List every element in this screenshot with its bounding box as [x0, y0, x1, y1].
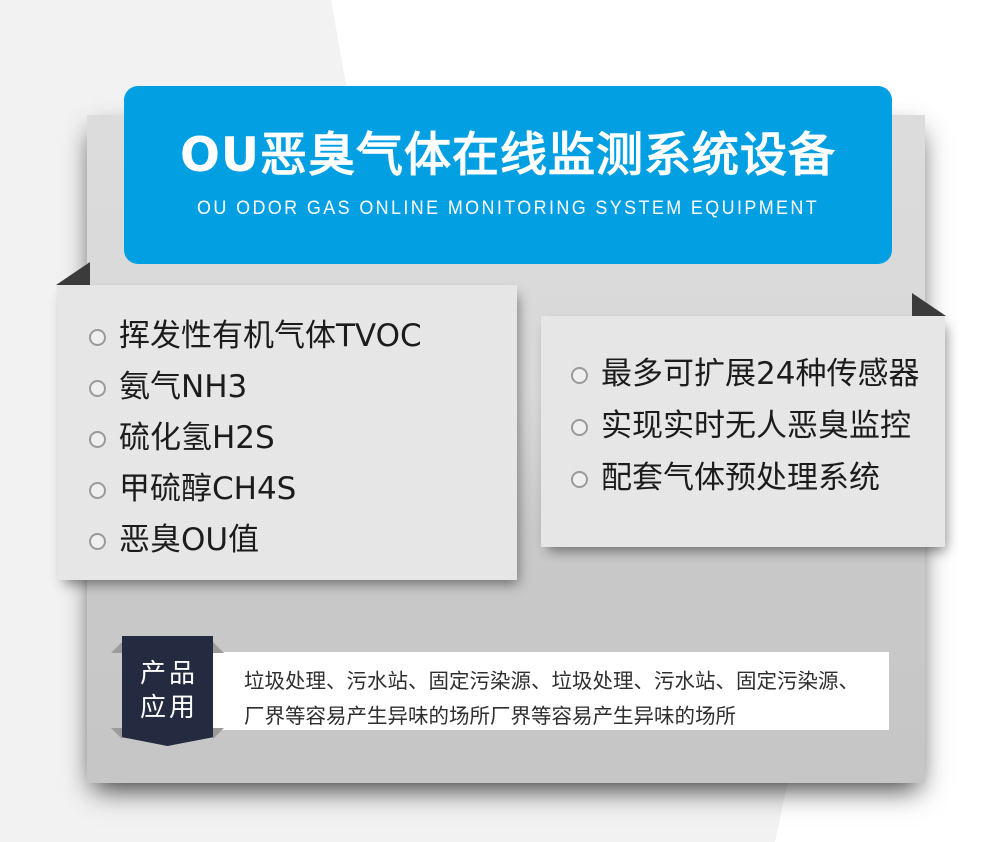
badge-ribbon-tail-left-bottom — [111, 728, 122, 739]
folded-corner-icon — [56, 262, 90, 285]
list-item: 挥发性有机气体TVOC — [57, 311, 517, 362]
application-badge-line-2: 应用 — [137, 691, 198, 725]
list-item-label: 最多可扩展24种传感器 — [601, 359, 919, 390]
list-item: 硫化氢H2S — [57, 413, 517, 464]
list-item: 氨气NH3 — [57, 362, 517, 413]
bullet-circle-icon — [89, 533, 106, 550]
bullet-circle-icon — [89, 380, 106, 397]
poster-stage: OU恶臭气体在线监测系统设备 OU ODOR GAS ONLINE MONITO… — [0, 0, 1000, 842]
list-item: 最多可扩展24种传感器 — [541, 348, 945, 400]
bullet-circle-icon — [89, 482, 106, 499]
application-strip: 垃圾处理、污水站、固定污染源、垃圾处理、污水站、固定污染源、 厂界等容易产生异味… — [122, 636, 889, 746]
banner-title-cn: OU恶臭气体在线监测系统设备 — [180, 130, 836, 182]
header-banner: OU恶臭气体在线监测系统设备 OU ODOR GAS ONLINE MONITO… — [124, 86, 892, 264]
list-item: 甲硫醇CH4S — [57, 464, 517, 515]
bullet-circle-icon — [571, 367, 588, 384]
folded-corner-icon — [912, 293, 946, 316]
list-item-label: 挥发性有机气体TVOC — [119, 321, 422, 352]
list-item: 配套气体预处理系统 — [541, 452, 945, 504]
capabilities-list: 最多可扩展24种传感器 实现实时无人恶臭监控 配套气体预处理系统 — [541, 348, 945, 504]
badge-ribbon-tail-right-bottom — [213, 728, 224, 739]
list-item-label: 甲硫醇CH4S — [119, 474, 296, 505]
application-badge-line-1: 产品 — [137, 657, 198, 691]
application-text-panel: 垃圾处理、污水站、固定污染源、垃圾处理、污水站、固定污染源、 厂界等容易产生异味… — [152, 652, 889, 730]
capabilities-card: 最多可扩展24种传感器 实现实时无人恶臭监控 配套气体预处理系统 — [541, 316, 945, 547]
gas-types-card: 挥发性有机气体TVOC 氨气NH3 硫化氢H2S 甲硫醇CH4S 恶臭OU值 — [57, 285, 517, 580]
bullet-circle-icon — [89, 431, 106, 448]
list-item-label: 实现实时无人恶臭监控 — [601, 411, 911, 442]
badge-ribbon-tail-right — [213, 642, 224, 653]
list-item: 恶臭OU值 — [57, 515, 517, 566]
list-item-label: 硫化氢H2S — [119, 423, 275, 454]
list-item-label: 氨气NH3 — [119, 372, 247, 403]
bullet-circle-icon — [571, 419, 588, 436]
bullet-circle-icon — [89, 329, 106, 346]
application-text-line-1: 垃圾处理、污水站、固定污染源、垃圾处理、污水站、固定污染源、 — [244, 664, 875, 699]
list-item: 实现实时无人恶臭监控 — [541, 400, 945, 452]
badge-ribbon-tail-left — [111, 642, 122, 653]
list-item-label: 配套气体预处理系统 — [601, 463, 880, 494]
gas-types-list: 挥发性有机气体TVOC 氨气NH3 硫化氢H2S 甲硫醇CH4S 恶臭OU值 — [57, 311, 517, 566]
bullet-circle-icon — [571, 471, 588, 488]
application-badge: 产品 应用 — [122, 636, 213, 746]
banner-title-en: OU ODOR GAS ONLINE MONITORING SYSTEM EQU… — [197, 197, 819, 220]
list-item-label: 恶臭OU值 — [119, 525, 259, 556]
application-text-line-2: 厂界等容易产生异味的场所厂界等容易产生异味的场所 — [244, 699, 875, 734]
